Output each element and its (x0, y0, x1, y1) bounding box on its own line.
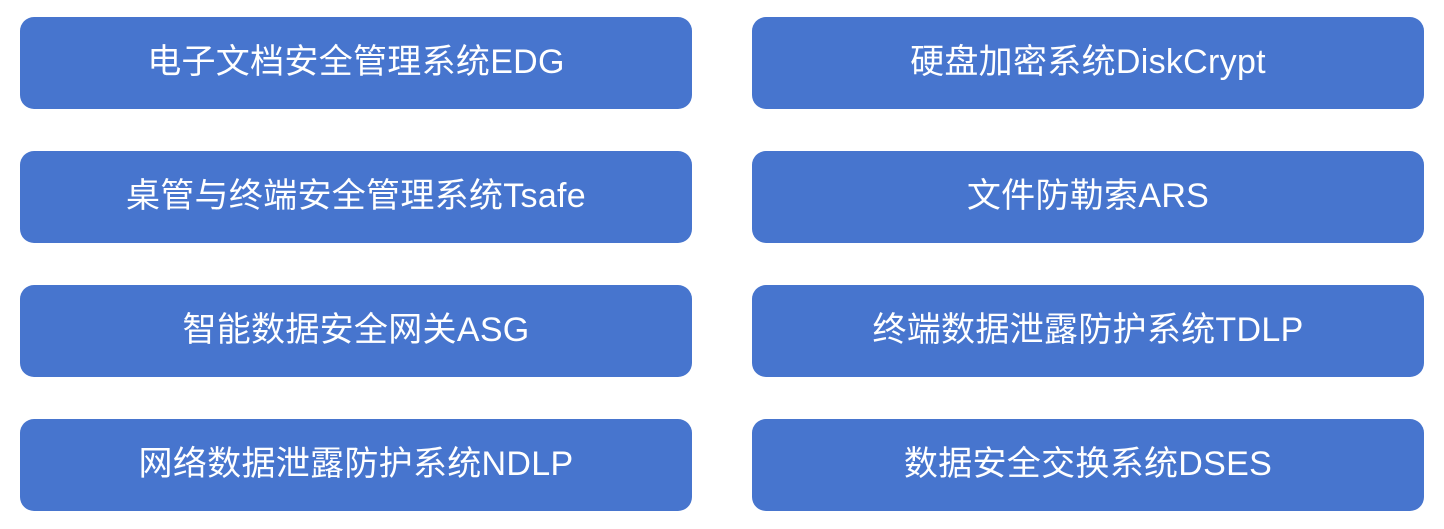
product-card-asg[interactable]: 智能数据安全网关ASG (20, 285, 692, 377)
product-card-tdlp[interactable]: 终端数据泄露防护系统TDLP (752, 285, 1424, 377)
product-card-label: 网络数据泄露防护系统NDLP (139, 445, 574, 484)
product-card-label: 硬盘加密系统DiskCrypt (910, 43, 1266, 82)
product-card-edg[interactable]: 电子文档安全管理系统EDG (20, 17, 692, 109)
product-card-ndlp[interactable]: 网络数据泄露防护系统NDLP (20, 419, 692, 511)
product-card-grid: 电子文档安全管理系统EDG 硬盘加密系统DiskCrypt 桌管与终端安全管理系… (20, 17, 1424, 511)
product-card-label: 电子文档安全管理系统EDG (147, 43, 565, 82)
product-card-diskcrypt[interactable]: 硬盘加密系统DiskCrypt (752, 17, 1424, 109)
product-card-label: 终端数据泄露防护系统TDLP (872, 311, 1303, 350)
product-card-board: 电子文档安全管理系统EDG 硬盘加密系统DiskCrypt 桌管与终端安全管理系… (0, 0, 1444, 529)
product-card-dses[interactable]: 数据安全交换系统DSES (752, 419, 1424, 511)
product-card-label: 桌管与终端安全管理系统Tsafe (126, 177, 586, 216)
product-card-label: 文件防勒索ARS (967, 177, 1209, 216)
product-card-label: 智能数据安全网关ASG (182, 311, 529, 350)
product-card-ars[interactable]: 文件防勒索ARS (752, 151, 1424, 243)
product-card-tsafe[interactable]: 桌管与终端安全管理系统Tsafe (20, 151, 692, 243)
product-card-label: 数据安全交换系统DSES (904, 445, 1272, 484)
